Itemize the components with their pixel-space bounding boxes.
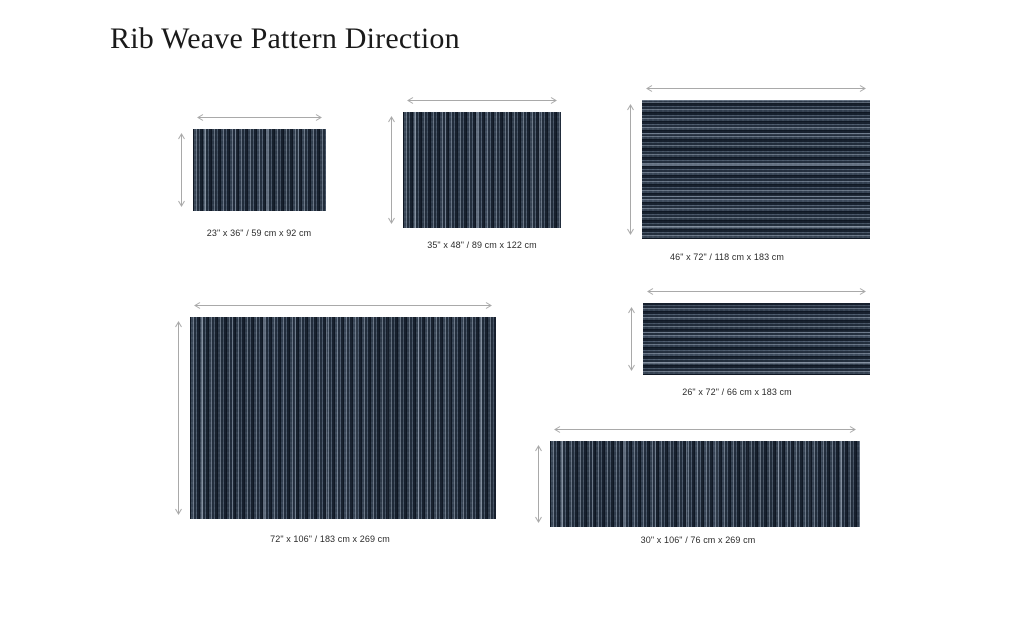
- width-dimension-arrow: [643, 286, 870, 297]
- rug-swatch-vertical-weave[interactable]: [190, 317, 496, 519]
- swatch-35x48[interactable]: [403, 112, 561, 228]
- rug-swatch-horizontal-weave[interactable]: [643, 303, 870, 375]
- swatch-caption: 72" x 106" / 183 cm x 269 cm: [180, 533, 480, 545]
- swatch-caption: 30" x 106" / 76 cm x 269 cm: [548, 534, 848, 546]
- height-dimension-arrow: [386, 112, 397, 228]
- rib-weave-size-chart: Rib Weave Pattern Direction 23" x 36" / …: [0, 0, 1024, 633]
- height-dimension-arrow: [533, 441, 544, 527]
- rug-swatch-horizontal-weave[interactable]: [642, 100, 870, 239]
- swatch-caption: 46" x 72" / 118 cm x 183 cm: [577, 251, 877, 263]
- swatch-caption: 35" x 48" / 89 cm x 122 cm: [332, 239, 632, 251]
- width-dimension-arrow: [550, 424, 860, 435]
- swatch-46x72[interactable]: [642, 100, 870, 239]
- swatch-23x36[interactable]: [193, 129, 326, 211]
- swatch-caption: 26" x 72" / 66 cm x 183 cm: [587, 386, 887, 398]
- width-dimension-arrow: [403, 95, 561, 106]
- width-dimension-arrow: [642, 83, 870, 94]
- rug-swatch-vertical-weave[interactable]: [403, 112, 561, 228]
- width-dimension-arrow: [190, 300, 496, 311]
- page-title: Rib Weave Pattern Direction: [110, 21, 460, 57]
- swatch-caption: 23" x 36" / 59 cm x 92 cm: [109, 227, 409, 239]
- rug-swatch-vertical-weave[interactable]: [550, 441, 860, 527]
- height-dimension-arrow: [626, 303, 637, 375]
- width-dimension-arrow: [193, 112, 326, 123]
- swatch-30x106[interactable]: [550, 441, 860, 527]
- height-dimension-arrow: [625, 100, 636, 239]
- rug-swatch-vertical-weave[interactable]: [193, 129, 326, 211]
- height-dimension-arrow: [173, 317, 184, 519]
- height-dimension-arrow: [176, 129, 187, 211]
- swatch-26x72[interactable]: [643, 303, 870, 375]
- swatch-72x106[interactable]: [190, 317, 496, 519]
